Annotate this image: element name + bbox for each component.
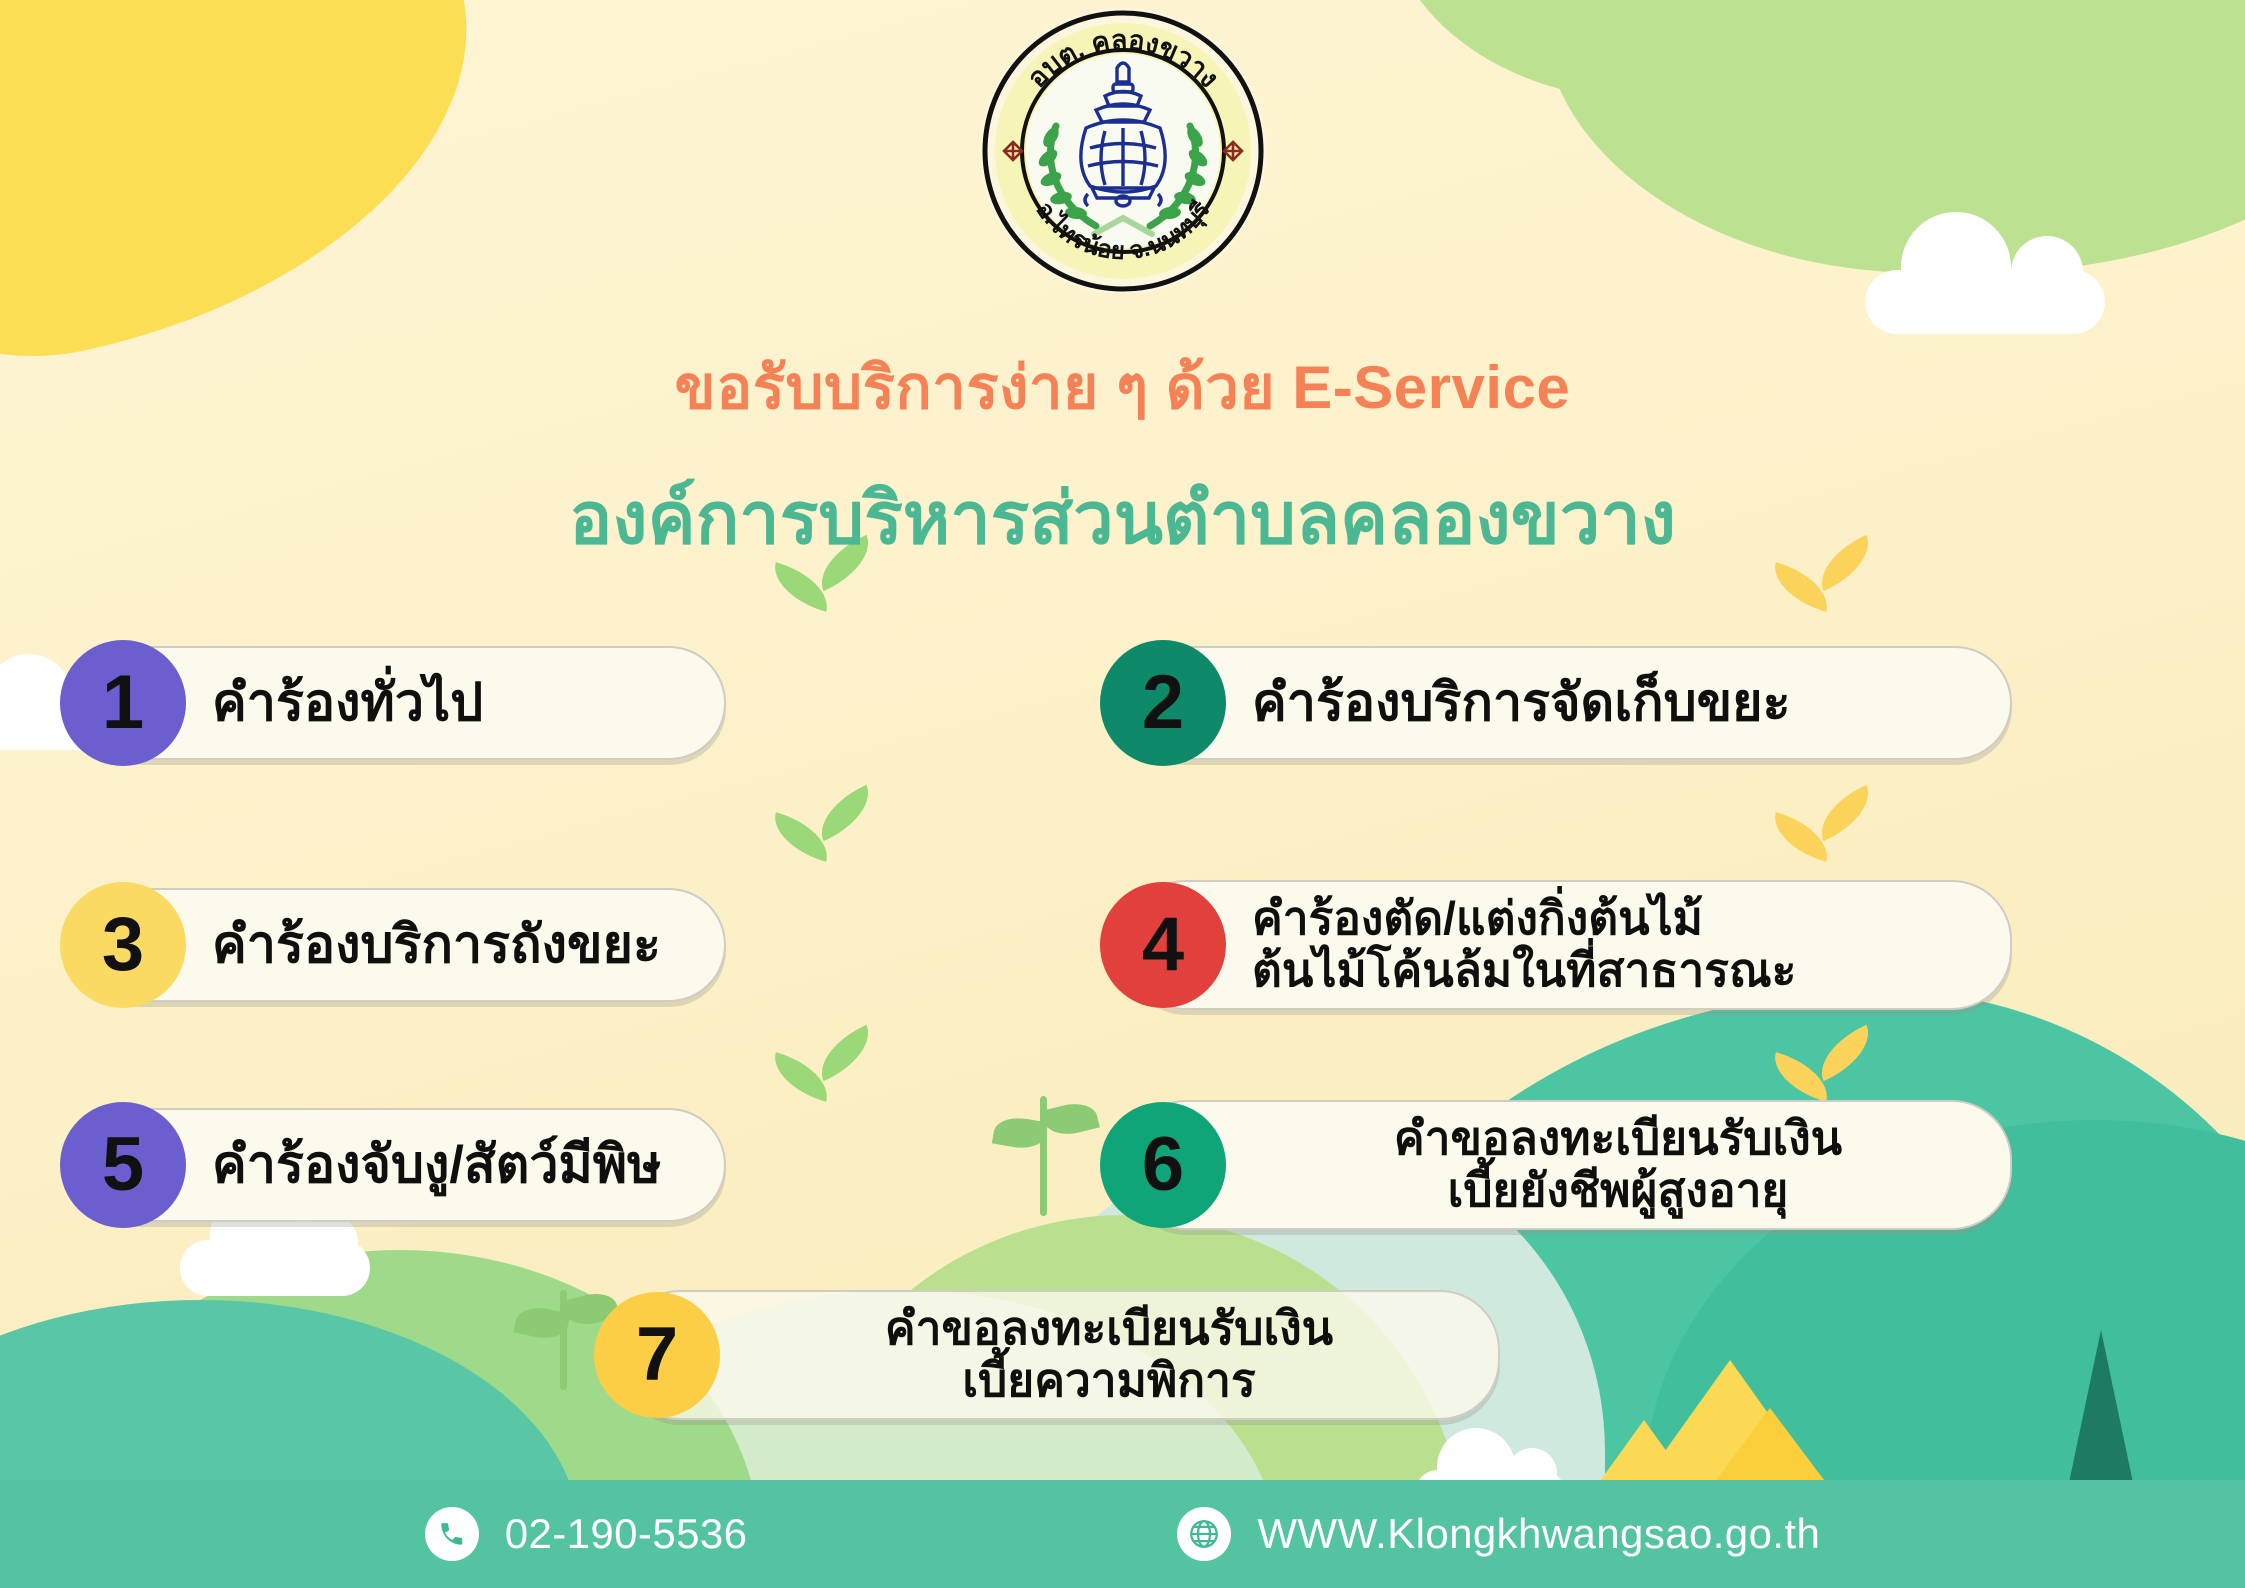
service-number-badge-5: 5 (60, 1102, 186, 1228)
service-label-7-line1: คำขอลงทะเบียนรับเงิน (885, 1302, 1333, 1354)
service-label-7: คำขอลงทะเบียนรับเงิน เบี้ยความพิการ (720, 1303, 1498, 1406)
cloud-icon-1 (1865, 270, 2105, 334)
service-label-2: คำร้องบริการจัดเก็บขยะ (1226, 674, 2010, 732)
service-item-5[interactable]: 5 คำร้องจับงู/สัตว์มีพิษ (86, 1108, 726, 1222)
service-label-7-line2: เบี้ยความพิการ (746, 1355, 1472, 1407)
service-item-4[interactable]: 4 คำร้องตัด/แต่งกิ่งต้นไม้ ต้นไม้โค้นล้ม… (1126, 880, 2012, 1010)
service-number-badge-6: 6 (1100, 1102, 1226, 1228)
website-contact[interactable]: WWW.Klongkhwangsao.go.th (1177, 1507, 1820, 1561)
service-number-badge-4: 4 (1100, 882, 1226, 1008)
service-item-3[interactable]: 3 คำร้องบริการถังขยะ (86, 888, 726, 1002)
contact-footer: 02-190-5536 WWW.Klongkhwangsao.go.th (0, 1480, 2245, 1588)
municipal-seal-icon: อบต. คลองขวาง อ.ไทรน้อย จ.นนทบุรี (978, 6, 1268, 296)
phone-number: 02-190-5536 (505, 1510, 748, 1558)
page-subtitle: องค์การบริหารส่วนตำบลคลองขวาง (0, 460, 2245, 575)
page-title: ขอรับบริการง่าย ๆ ด้วย E-Service (0, 340, 2245, 435)
service-number-badge-1: 1 (60, 640, 186, 766)
service-number-badge-3: 3 (60, 882, 186, 1008)
service-item-2[interactable]: 2 คำร้องบริการจัดเก็บขยะ (1126, 646, 2012, 760)
service-item-6[interactable]: 6 คำขอลงทะเบียนรับเงิน เบี้ยยังชีพผู้สูง… (1126, 1100, 2012, 1230)
green-blob-decoration (1520, 0, 2245, 324)
service-label-3: คำร้องบริการถังขยะ (186, 916, 724, 974)
service-label-5: คำร้องจับงู/สัตว์มีพิษ (186, 1136, 724, 1194)
service-label-4-line2: ต้นไม้โค้นล้มในที่สาธารณะ (1252, 945, 1984, 997)
service-label-6: คำขอลงทะเบียนรับเงิน เบี้ยยังชีพผู้สูงอา… (1226, 1113, 2010, 1216)
website-url: WWW.Klongkhwangsao.go.th (1257, 1510, 1820, 1558)
cloud-icon-3 (180, 1240, 370, 1296)
service-label-4-line1: คำร้องตัด/แต่งกิ่งต้นไม้ (1252, 892, 1703, 944)
phone-contact[interactable]: 02-190-5536 (425, 1507, 748, 1561)
service-label-4: คำร้องตัด/แต่งกิ่งต้นไม้ ต้นไม้โค้นล้มใน… (1226, 893, 2010, 996)
green-blob-decoration-2 (1385, 0, 1905, 100)
service-label-1: คำร้องทั่วไป (186, 674, 724, 732)
green-leaf-icon-3 (770, 1030, 890, 1120)
phone-icon (425, 1507, 479, 1561)
globe-icon (1177, 1507, 1231, 1561)
yellow-leaf-icon-2 (1770, 790, 1890, 880)
service-number-badge-2: 2 (1100, 640, 1226, 766)
service-item-7[interactable]: 7 คำขอลงทะเบียนรับเงิน เบี้ยความพิการ (620, 1290, 1500, 1420)
service-label-6-line1: คำขอลงทะเบียนรับเงิน (1394, 1112, 1842, 1164)
green-leaf-icon-2 (770, 790, 890, 880)
sprout-plant-icon-1 (1040, 1096, 1047, 1216)
infographic-canvas: อบต. คลองขวาง อ.ไทรน้อย จ.นนทบุรี ขอรับบ… (0, 0, 2245, 1588)
service-item-1[interactable]: 1 คำร้องทั่วไป (86, 646, 726, 760)
service-number-badge-7: 7 (594, 1292, 720, 1418)
sprout-plant-icon-2 (560, 1290, 567, 1390)
service-label-6-line2: เบี้ยยังชีพผู้สูงอายุ (1252, 1165, 1984, 1217)
